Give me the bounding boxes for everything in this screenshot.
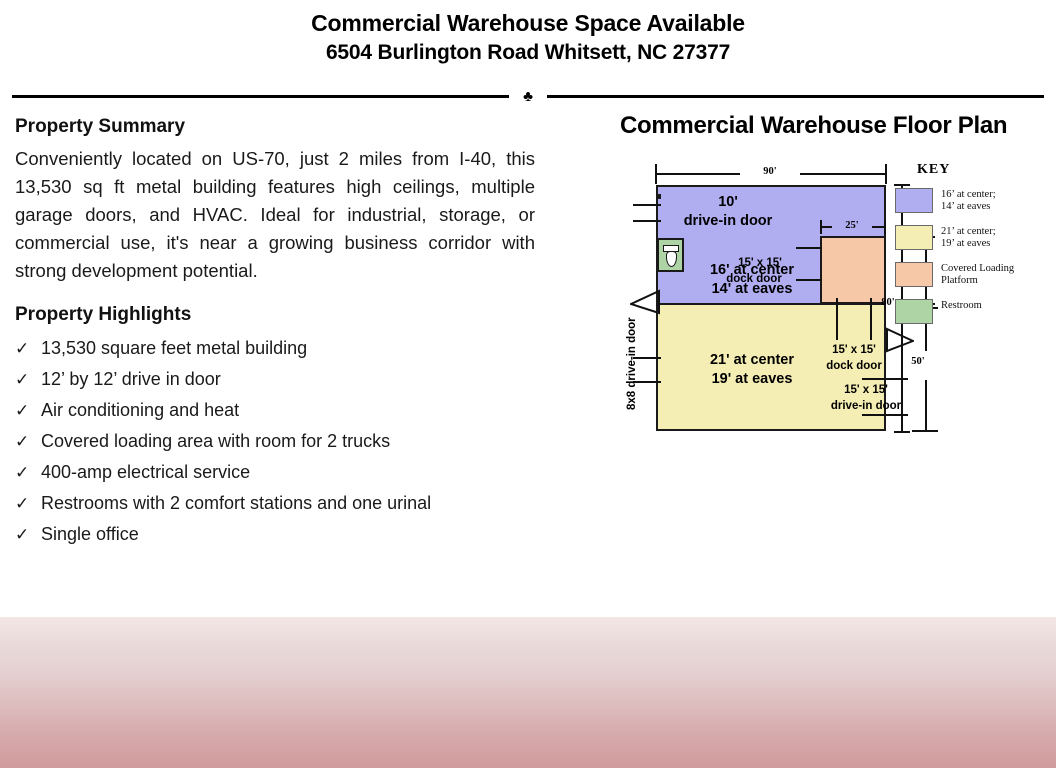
check-icon: ✓ (15, 520, 41, 550)
header-divider: ♣ (12, 87, 1044, 105)
list-item: ✓ Restrooms with 2 comfort stations and … (15, 488, 535, 519)
list-item-label: Air conditioning and heat (41, 395, 239, 425)
dock-door-upper-tick-b (796, 279, 822, 281)
key-label-upper-warehouse: 16’ at center; 14’ at eaves (941, 188, 996, 213)
key-swatch-upper-warehouse (895, 188, 933, 213)
dim-top-line-left (655, 173, 740, 175)
dim-platform-line-right (872, 226, 885, 228)
key-swatch-lower-warehouse (895, 225, 933, 250)
list-item: ✓ 400-amp electrical service (15, 457, 535, 488)
dock-door-lower-label-line2: dock door (812, 360, 896, 374)
property-highlights-title: Property Highlights (15, 303, 535, 327)
header-title-line1: Commercial Warehouse Space Available (0, 8, 1056, 38)
list-item-label: 400-amp electrical service (41, 457, 250, 487)
key-swatch-loading-platform (895, 262, 933, 287)
check-icon: ✓ (15, 396, 41, 426)
dock-door-upper-label-line2: dock door (712, 273, 796, 287)
list-item: ✓ Air conditioning and heat (15, 395, 535, 426)
dim-label-width: 90' (743, 166, 797, 178)
property-highlights-list: ✓ 13,530 square feet metal building ✓ 12… (15, 333, 535, 550)
drive-in-right-label-line1: 15' x 15' (824, 384, 908, 398)
side-drive-in-door-label: 8x8 drive-in door (626, 280, 640, 410)
drive-in-right-label-line2: drive-in door (818, 400, 914, 414)
dim-80-bottom-cap (894, 431, 910, 433)
list-item-label: Restrooms with 2 comfort stations and on… (41, 488, 431, 518)
property-summary-title: Property Summary (15, 115, 535, 139)
lower-area-label-line1: 21' at center (682, 352, 822, 369)
door-tick-top-a (633, 204, 661, 206)
key-item-loading-platform: Covered Loading Platform (895, 262, 1055, 290)
bottom-gradient-band (0, 617, 1056, 768)
list-item: ✓ 13,530 square feet metal building (15, 333, 535, 364)
dim-50-line-lower (925, 380, 927, 431)
dim-top-line-right (800, 173, 886, 175)
check-icon: ✓ (15, 365, 41, 395)
key-label-restroom: Restroom (941, 299, 982, 312)
key-title: KEY (895, 162, 1055, 178)
door-tick-top-b (633, 220, 661, 222)
slide-header: Commercial Warehouse Space Available 650… (0, 8, 1056, 67)
dim-platform-line-left (820, 226, 832, 228)
covered-loading-platform (820, 236, 886, 304)
restroom-cell (657, 238, 684, 272)
lower-area-label-line2: 19' at eaves (682, 371, 822, 388)
divider-rule-right (547, 95, 1044, 98)
list-item-label: 12’ by 12’ drive in door (41, 364, 221, 394)
dim-50-bottom-cap (912, 430, 938, 432)
dock-door-upper-tick-a (796, 247, 822, 249)
drive-in-door-top-label-line1: 10' (658, 194, 798, 211)
dock-door-lower-tick-a (836, 298, 838, 340)
floorplan-diagram: 90' (600, 152, 1056, 612)
key-item-lower-warehouse: 21’ at center; 19’ at eaves (895, 225, 1055, 253)
key-item-restroom: Restroom (895, 299, 1055, 327)
divider-rule-left (12, 95, 509, 98)
dim-label-platform-width: 25' (832, 220, 872, 232)
check-icon: ✓ (15, 427, 41, 457)
slide-canvas: Commercial Warehouse Space Available 650… (0, 0, 1056, 768)
left-content-column: Property Summary Conveniently located on… (15, 115, 535, 550)
key-label-loading-platform: Covered Loading Platform (941, 262, 1014, 287)
dock-door-lower-label-line1: 15' x 15' (812, 344, 896, 358)
key-swatch-restroom (895, 299, 933, 324)
dock-door-upper-label-line1: 15' x 15' (718, 257, 802, 271)
floorplan-key: KEY 16’ at center; 14’ at eaves 21’ at c… (895, 162, 1055, 336)
list-item-label: 13,530 square feet metal building (41, 333, 307, 363)
key-item-upper-warehouse: 16’ at center; 14’ at eaves (895, 188, 1055, 216)
list-item: ✓ Single office (15, 519, 535, 550)
list-item: ✓ Covered loading area with room for 2 t… (15, 426, 535, 457)
check-icon: ✓ (15, 334, 41, 364)
dock-door-lower-tick-b (870, 298, 872, 340)
header-title-line2: 6504 Burlington Road Whitsett, NC 27377 (0, 38, 1056, 67)
key-label-lower-warehouse: 21’ at center; 19’ at eaves (941, 225, 996, 250)
club-icon: ♣ (509, 89, 547, 104)
list-item-label: Covered loading area with room for 2 tru… (41, 426, 390, 456)
list-item: ✓ 12’ by 12’ drive in door (15, 364, 535, 395)
drive-in-door-top-label-line2: drive-in door (658, 213, 798, 230)
check-icon: ✓ (15, 489, 41, 519)
floorplan-title: Commercial Warehouse Floor Plan (620, 112, 1007, 140)
check-icon: ✓ (15, 458, 41, 488)
list-item-label: Single office (41, 519, 139, 549)
dim-label-lower-right: 50' (906, 356, 930, 368)
property-summary-body: Conveniently located on US-70, just 2 mi… (15, 145, 535, 285)
right-content-column: Commercial Warehouse Floor Plan 90' (600, 112, 1056, 612)
